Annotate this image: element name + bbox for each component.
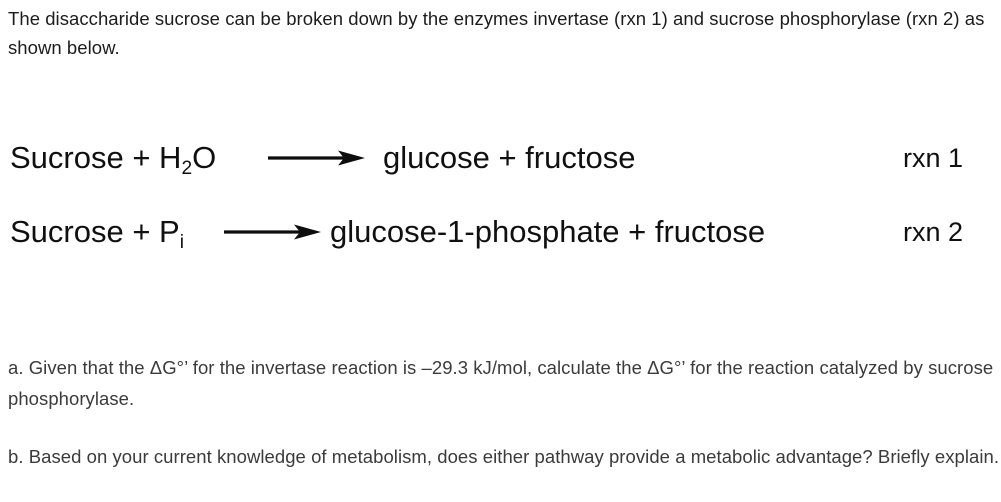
delta-g-symbol: ΔG°’ [647, 357, 685, 378]
reaction-2-reactant-subscript: i [180, 232, 184, 253]
reaction-1-reactant-suffix: O [192, 140, 216, 175]
intro-paragraph: The disaccharide sucrose can be broken d… [8, 4, 993, 62]
question-part-b: b. Based on your current knowledge of me… [8, 441, 1000, 472]
delta-g-symbol: ΔG°’ [150, 357, 188, 378]
reaction-1-reactants: Sucrose + H2O [10, 136, 216, 185]
reaction-row-1: Sucrose + H2O glucose + fructose rxn 1 [0, 136, 1001, 210]
reaction-2-products: glucose-1-phosphate + fructose [330, 210, 765, 254]
reaction-1-reactant-subscript: 2 [181, 158, 192, 179]
reaction-row-2: Sucrose + Pi glucose-1-phosphate + fruct… [0, 210, 1001, 284]
reaction-1-products: glucose + fructose [383, 136, 635, 180]
reaction-2-reactant-prefix: Sucrose + P [10, 214, 180, 249]
reaction-scheme: Sucrose + H2O glucose + fructose rxn 1 S… [0, 136, 1001, 284]
question-a-text-2: for the invertase reaction is –29.3 kJ/m… [188, 357, 648, 378]
reaction-1-label: rxn 1 [903, 136, 963, 180]
right-arrow-icon [224, 218, 322, 262]
question-a-text-1: a. Given that the [8, 357, 150, 378]
reaction-1-reactant-prefix: Sucrose + H [10, 140, 181, 175]
reaction-2-reactants: Sucrose + Pi [10, 210, 184, 259]
right-arrow-icon [268, 144, 366, 188]
reaction-2-label: rxn 2 [903, 210, 963, 254]
question-part-a: a. Given that the ΔG°’ for the invertase… [8, 352, 1000, 414]
